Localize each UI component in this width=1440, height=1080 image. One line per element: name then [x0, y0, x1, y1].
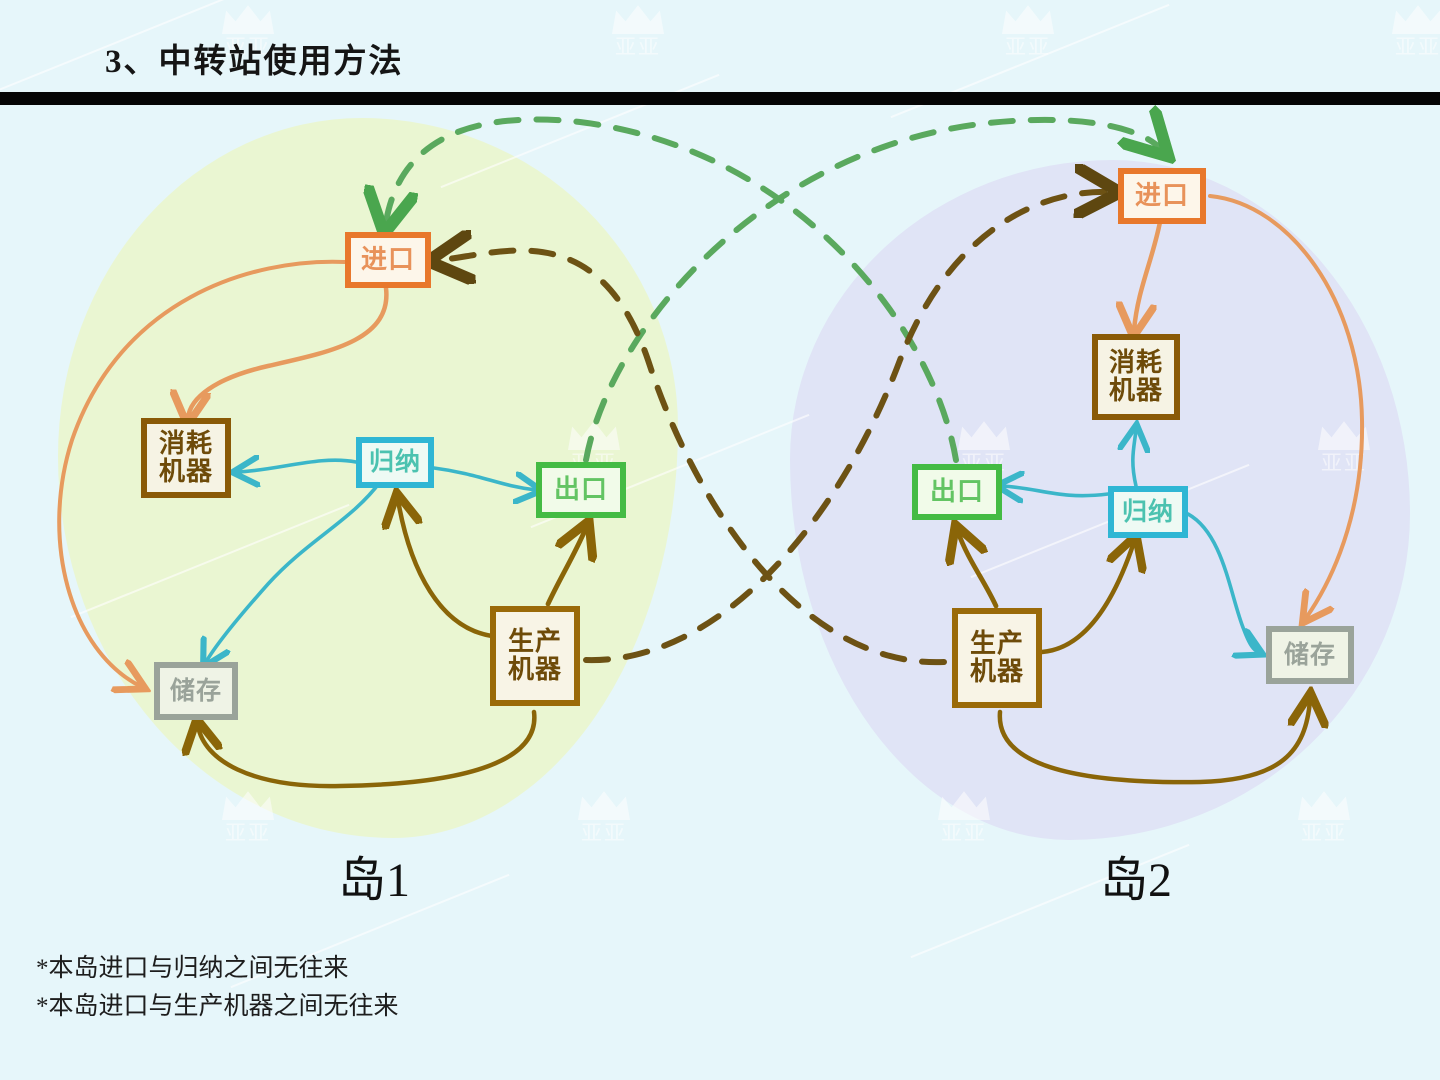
node-i1-collect[interactable]: 归纳 [356, 437, 434, 488]
node-label: 消耗机器 [1109, 349, 1163, 404]
crown-icon [1002, 4, 1054, 34]
footnotes: *本岛进口与归纳之间无往来 *本岛进口与生产机器之间无往来 [36, 950, 399, 1025]
node-i2-produce[interactable]: 生产机器 [952, 608, 1042, 708]
node-label: 消耗机器 [159, 430, 213, 485]
crown-icon [1298, 790, 1350, 820]
node-label: 归纳 [369, 449, 421, 476]
watermark: 亚亚 [612, 4, 664, 58]
watermark: 亚亚 [1002, 4, 1054, 58]
node-label: 归纳 [1122, 499, 1174, 526]
node-label: 储存 [1284, 642, 1336, 669]
node-i2-export[interactable]: 出口 [912, 464, 1002, 520]
island1-label: 岛1 [338, 840, 410, 910]
crown-icon [578, 790, 630, 820]
island2-region [790, 160, 1410, 840]
island2-label: 岛2 [1100, 840, 1172, 910]
node-i2-collect[interactable]: 归纳 [1108, 486, 1188, 538]
watermark: 亚亚 [1298, 790, 1350, 844]
node-i1-store[interactable]: 储存 [154, 662, 238, 720]
crown-icon [222, 4, 274, 34]
node-label: 生产机器 [970, 630, 1024, 685]
crown-icon [612, 4, 664, 34]
watermark-text: 亚亚 [612, 37, 664, 58]
node-i2-import[interactable]: 进口 [1118, 168, 1206, 224]
footnote-2: *本岛进口与生产机器之间无往来 [36, 988, 399, 1026]
node-label: 生产机器 [508, 628, 562, 683]
watermark-text: 亚亚 [1298, 823, 1350, 844]
node-label: 进口 [1135, 182, 1189, 210]
footnote-1: *本岛进口与归纳之间无往来 [36, 950, 399, 988]
node-i2-consume[interactable]: 消耗机器 [1092, 334, 1180, 420]
node-i2-store[interactable]: 储存 [1266, 626, 1354, 684]
node-label: 储存 [170, 678, 222, 705]
node-i1-produce[interactable]: 生产机器 [490, 606, 580, 706]
diagram-canvas: 亚亚 亚亚 亚亚 亚亚 亚亚 亚亚 亚亚 亚亚 亚亚 亚亚 亚亚 亚亚 [0, 0, 1440, 1080]
watermark: 亚亚 [1392, 4, 1440, 58]
watermark-text: 亚亚 [578, 823, 630, 844]
watermark-text: 亚亚 [1392, 37, 1440, 58]
node-i1-consume[interactable]: 消耗机器 [141, 418, 231, 498]
watermark-text: 亚亚 [222, 823, 274, 844]
crown-icon [1392, 4, 1440, 34]
watermark-text: 亚亚 [1002, 37, 1054, 58]
node-label: 出口 [930, 478, 984, 506]
node-i1-export[interactable]: 出口 [536, 462, 626, 518]
page-title: 3、中转站使用方法 [105, 34, 404, 82]
watermark-text: 亚亚 [938, 823, 990, 844]
node-i1-import[interactable]: 进口 [345, 232, 431, 288]
node-label: 进口 [361, 246, 415, 274]
title-rule [0, 92, 1440, 105]
watermark: 亚亚 [578, 790, 630, 844]
node-label: 出口 [554, 476, 608, 504]
